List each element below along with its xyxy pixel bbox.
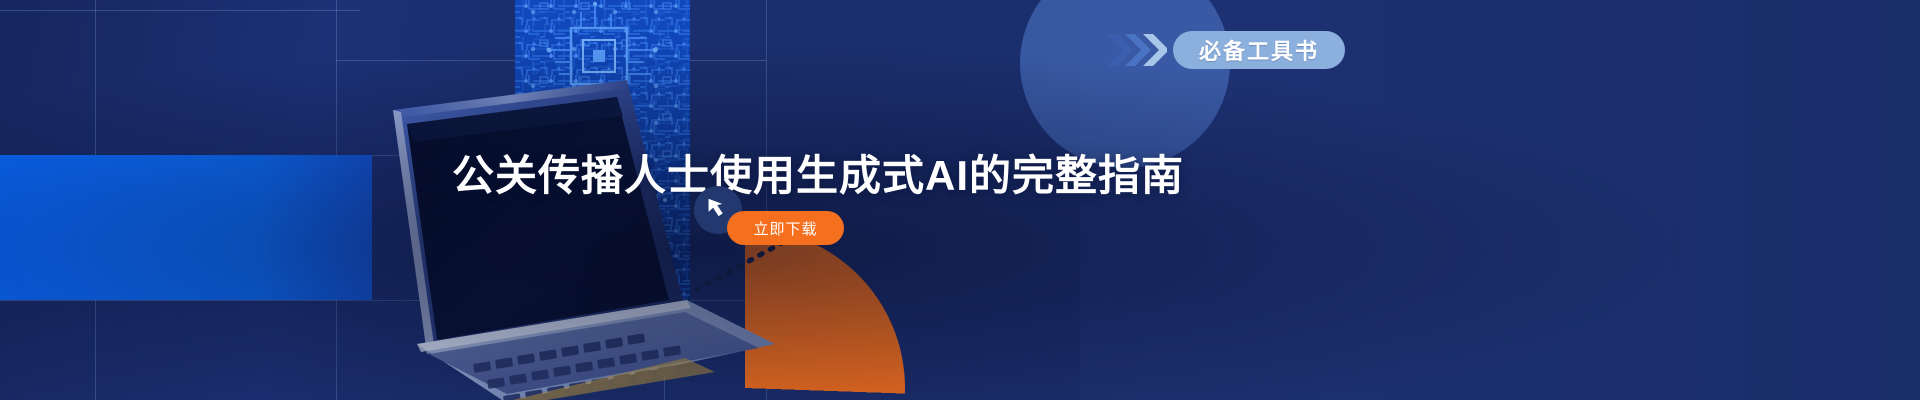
download-button-label: 立即下载 [753, 218, 817, 239]
badge: 必备工具书 [1105, 28, 1345, 72]
badge-pill: 必备工具书 [1173, 31, 1345, 69]
page-title: 公关传播人士使用生成式AI的完整指南 [452, 142, 1184, 203]
download-button[interactable]: 立即下载 [727, 211, 844, 245]
badge-label: 必备工具书 [1199, 34, 1319, 66]
promo-banner: 必备工具书 公关传播人士使用生成式AI的完整指南 立即下载 [0, 0, 1920, 400]
chevron-right-icon [1105, 30, 1167, 70]
